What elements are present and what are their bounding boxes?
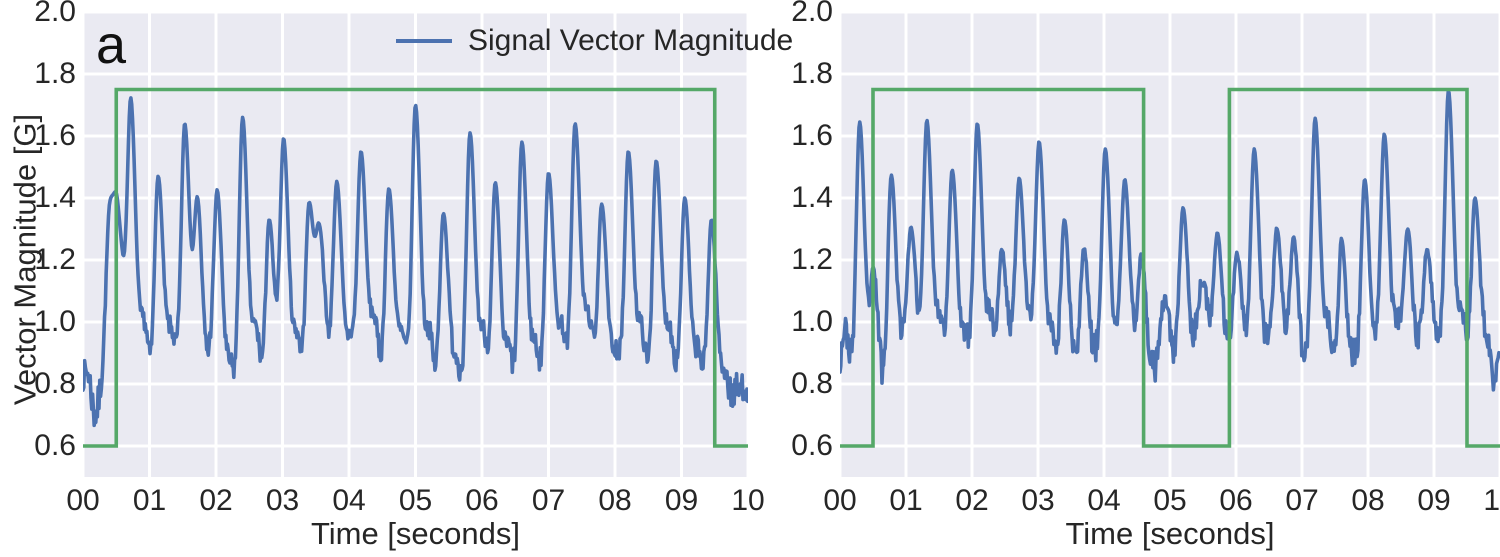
signal-plot-a — [83, 12, 748, 477]
x-tick-label: 04 — [1087, 486, 1120, 516]
x-tick-label: 09 — [1417, 486, 1450, 516]
x-tick-label: 05 — [1153, 486, 1186, 516]
signal-plot-b — [840, 12, 1500, 477]
panel-b: b Signal Vector Magnitude — [750, 0, 1500, 557]
x-tick-label: 03 — [1021, 486, 1054, 516]
x-tick-label: 06 — [465, 486, 498, 516]
y-axis-ticks-b: 0.60.81.01.21.41.61.82.0 — [750, 12, 833, 477]
plot-area-a — [83, 12, 748, 477]
panel-letter-a: a — [96, 18, 126, 72]
x-tick-label: 01 — [889, 486, 922, 516]
x-tick-label: 02 — [955, 486, 988, 516]
y-tick-label: 1.4 — [34, 183, 76, 213]
y-tick-label: 2.0 — [34, 0, 76, 27]
x-tick-label: 08 — [1351, 486, 1384, 516]
x-tick-label: 00 — [66, 486, 99, 516]
x-tick-label: 01 — [133, 486, 166, 516]
legend-a: Signal Vector Magnitude — [396, 26, 793, 56]
y-tick-label: 0.8 — [791, 369, 833, 399]
y-tick-label: 1.6 — [791, 121, 833, 151]
x-tick-label: 10 — [1483, 486, 1500, 516]
y-tick-label: 0.6 — [34, 431, 76, 461]
x-tick-label: 02 — [199, 486, 232, 516]
x-tick-label: 04 — [332, 486, 365, 516]
x-tick-label: 08 — [598, 486, 631, 516]
legend-line-swatch-icon — [396, 39, 452, 43]
y-tick-label: 2.0 — [791, 0, 833, 27]
x-tick-label: 06 — [1219, 486, 1252, 516]
y-tick-label: 1.6 — [34, 121, 76, 151]
y-tick-label: 1.8 — [791, 59, 833, 89]
y-tick-label: 0.8 — [34, 369, 76, 399]
x-tick-label: 05 — [399, 486, 432, 516]
y-tick-label: 1.2 — [34, 245, 76, 275]
y-tick-label: 1.0 — [791, 307, 833, 337]
y-tick-label: 1.8 — [34, 59, 76, 89]
x-axis-label-b: Time [seconds] — [840, 518, 1500, 549]
y-axis-ticks-a: 0.60.81.01.21.41.61.82.0 — [0, 12, 76, 477]
grid-lines — [840, 12, 1500, 477]
x-tick-label: 00 — [823, 486, 856, 516]
y-tick-label: 1.2 — [791, 245, 833, 275]
legend-label-a: Signal Vector Magnitude — [468, 26, 793, 56]
panel-a: Vector Magnitude [G] 0.60.81.01.21.41.61… — [0, 0, 750, 557]
x-axis-label-a: Time [seconds] — [83, 518, 748, 549]
grid-lines — [83, 12, 748, 477]
x-tick-label: 07 — [1285, 486, 1318, 516]
x-tick-label: 09 — [665, 486, 698, 516]
y-tick-label: 1.0 — [34, 307, 76, 337]
y-tick-label: 1.4 — [791, 183, 833, 213]
plot-area-b — [840, 12, 1500, 477]
figure: Vector Magnitude [G] 0.60.81.01.21.41.61… — [0, 0, 1500, 557]
x-tick-label: 03 — [266, 486, 299, 516]
x-tick-label: 07 — [532, 486, 565, 516]
y-tick-label: 0.6 — [791, 431, 833, 461]
